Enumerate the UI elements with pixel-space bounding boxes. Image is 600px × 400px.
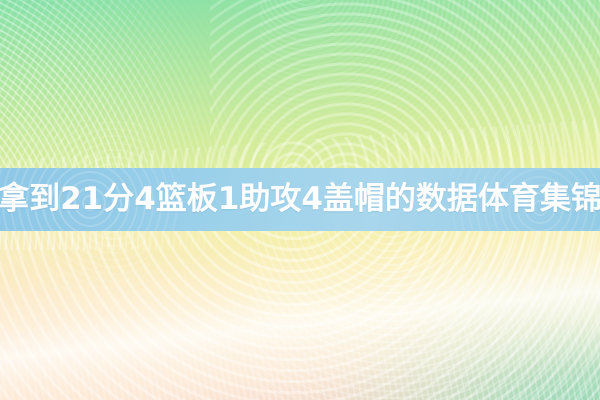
poster-graphic: 拿到21分4篮板1助攻4盖帽的数据体育集锦 xyxy=(0,0,600,400)
headline-text: 拿到21分4篮板1助攻4盖帽的数据体育集锦 xyxy=(0,184,600,215)
title-band: 拿到21分4篮板1助攻4盖帽的数据体育集锦 xyxy=(0,168,600,231)
